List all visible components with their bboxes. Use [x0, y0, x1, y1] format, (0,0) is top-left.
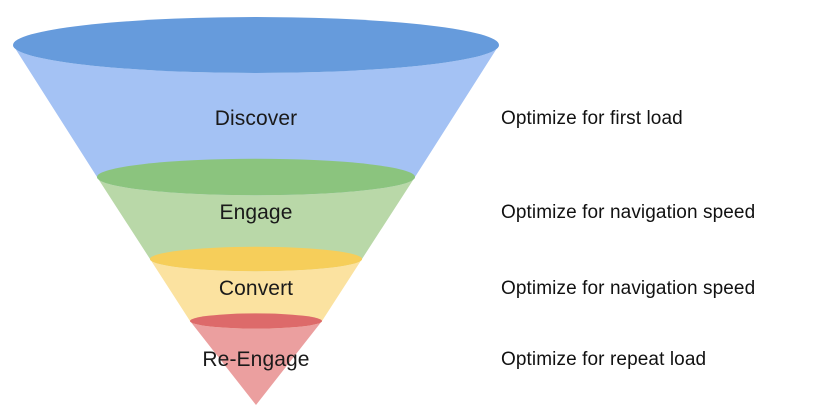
funnel-stage-annotation-3: Optimize for navigation speed: [501, 278, 755, 300]
funnel-stage-cap-4: [190, 313, 322, 328]
funnel-diagram: DiscoverEngageConvertRe-Engage Optimize …: [0, 0, 837, 417]
funnel-stage-annotation-2: Optimize for navigation speed: [501, 202, 755, 224]
funnel-stage-label-1: Discover: [215, 107, 297, 131]
funnel-stage-cap-2: [97, 159, 415, 196]
funnel-stage-cap-3: [150, 247, 362, 271]
funnel-stage-label-3: Convert: [219, 277, 293, 301]
funnel-stage-cap-1: [13, 17, 499, 73]
funnel-stage-annotation-1: Optimize for first load: [501, 108, 683, 130]
funnel-stage-annotation-4: Optimize for repeat load: [501, 349, 706, 371]
funnel-stage-label-4: Re-Engage: [202, 348, 309, 372]
funnel-stage-label-2: Engage: [219, 201, 292, 225]
